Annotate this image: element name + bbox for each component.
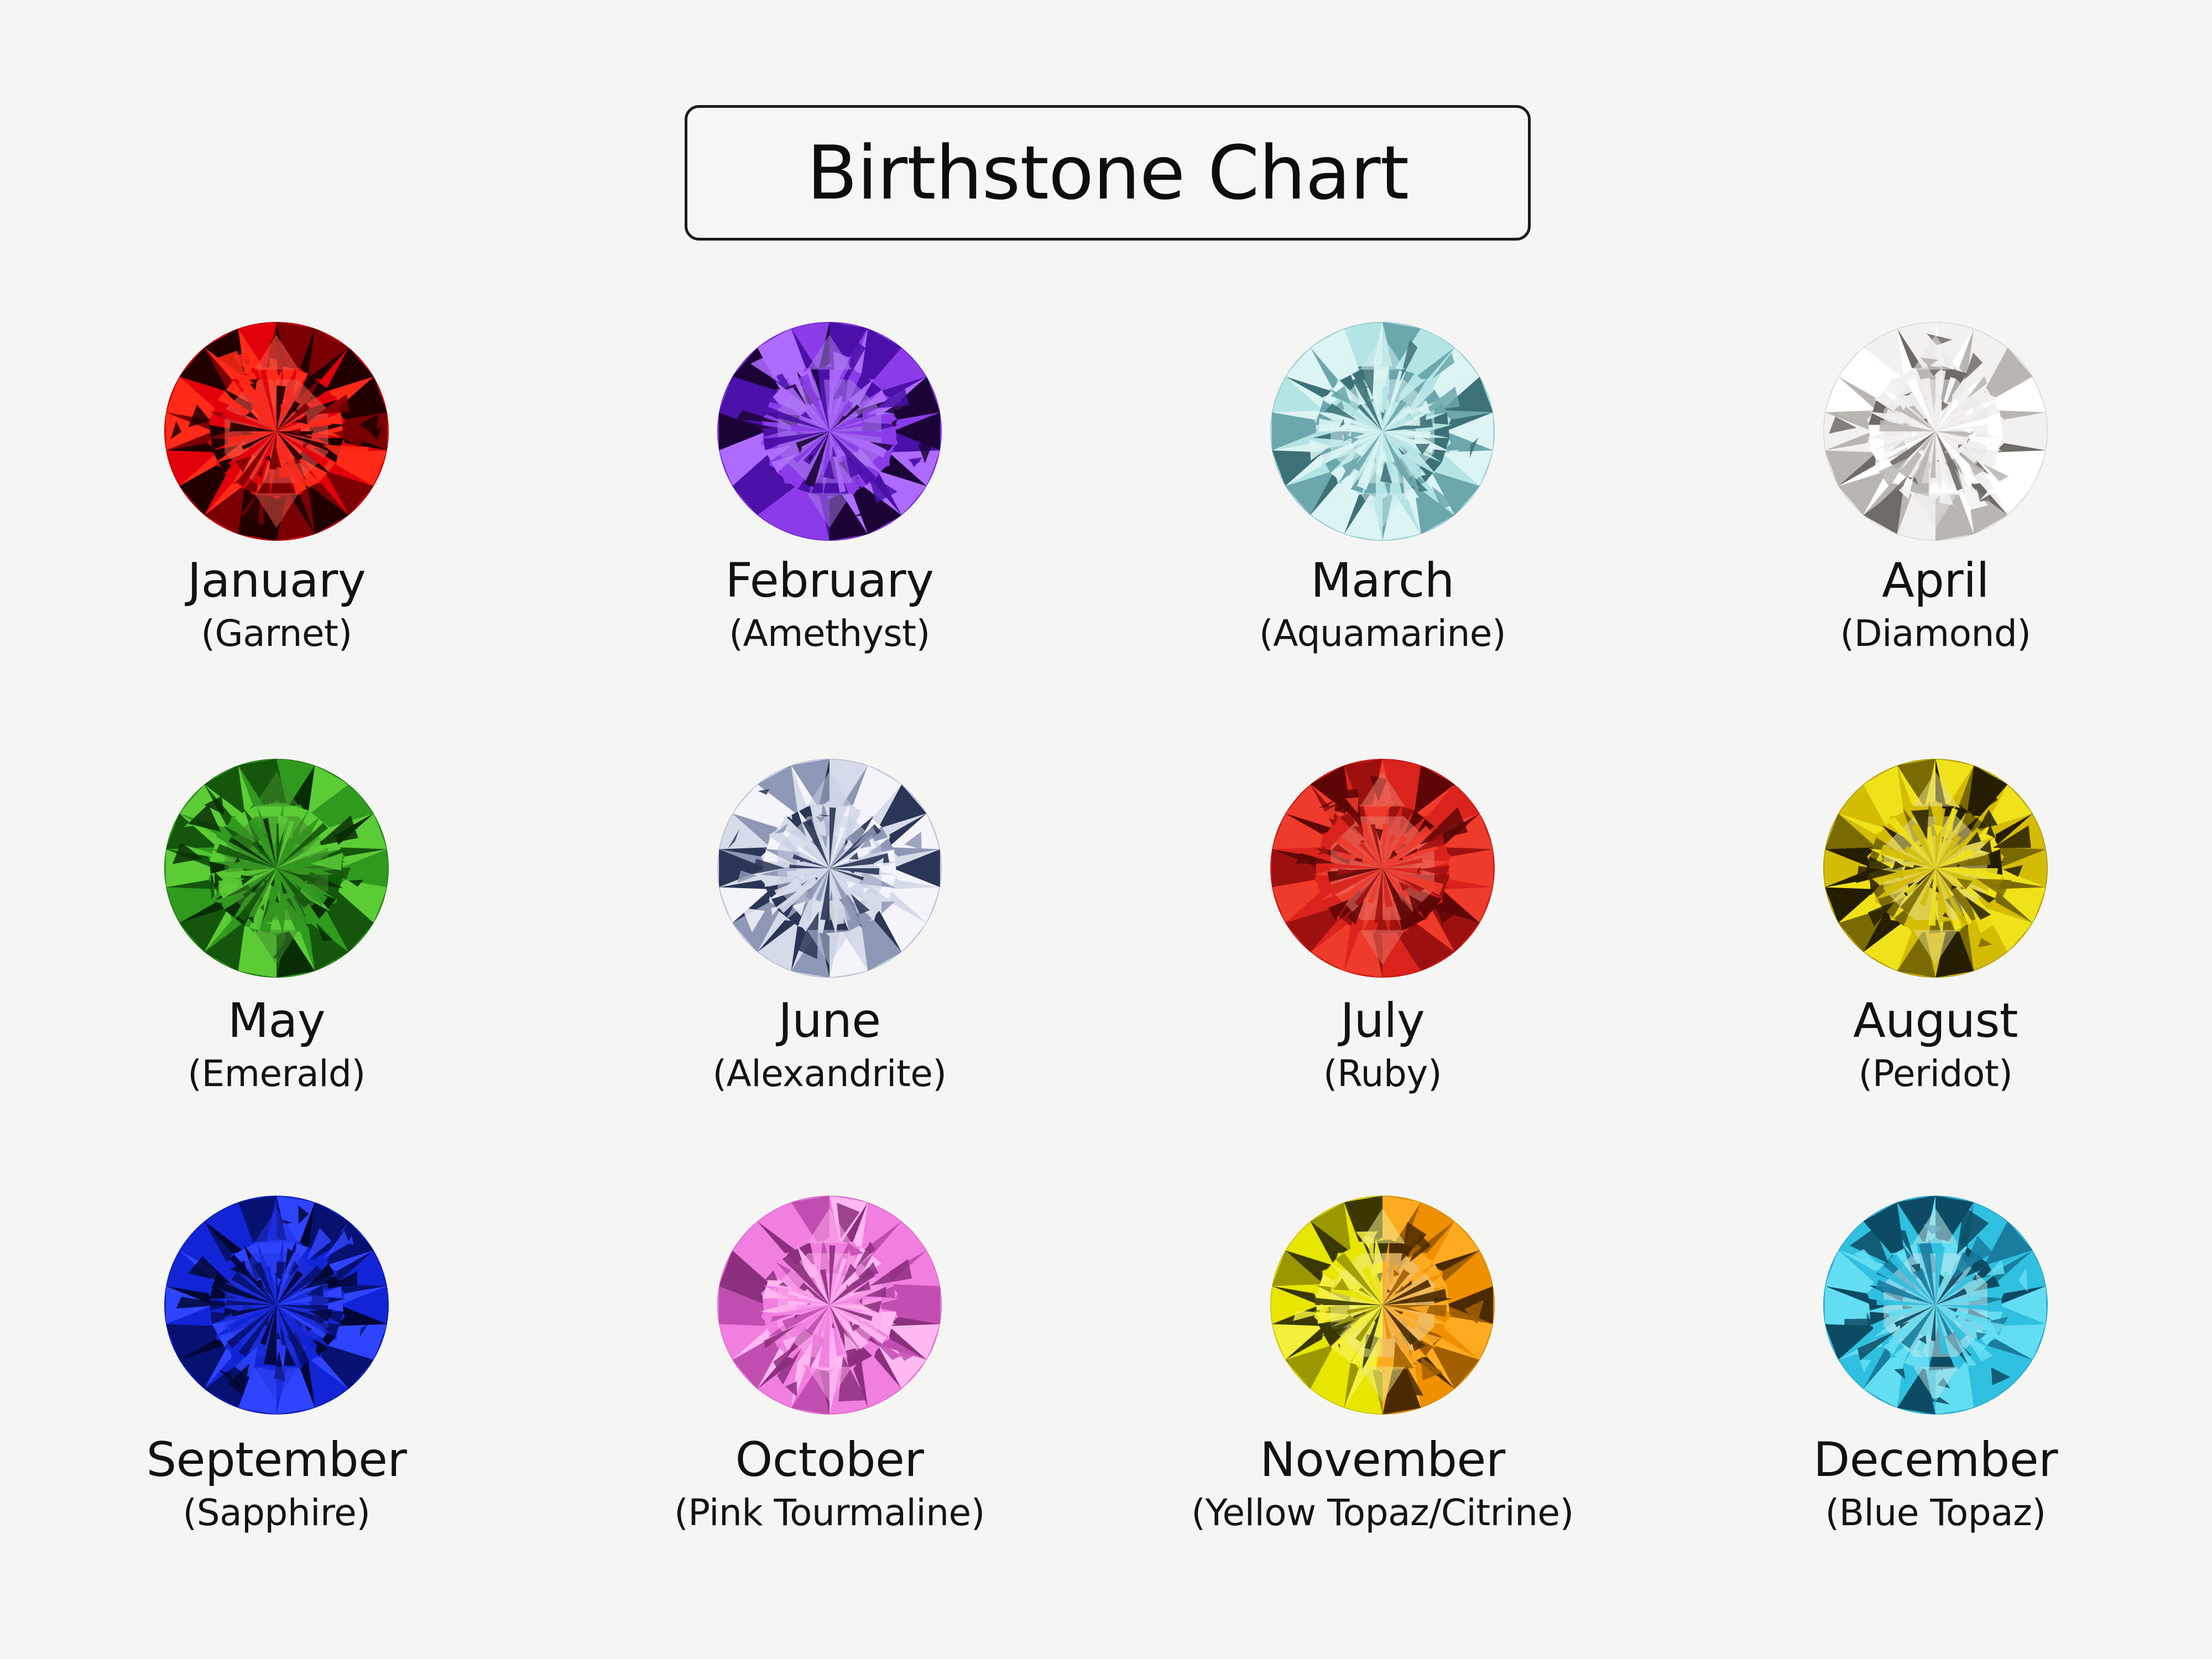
stone-name-label: (Ruby)	[1323, 1056, 1442, 1092]
month-label: August	[1853, 997, 2018, 1045]
birthstone-cell-october: October(Pink Tourmaline)	[553, 1192, 1106, 1629]
month-label: December	[1813, 1436, 2058, 1484]
month-label: September	[147, 1436, 407, 1484]
birthstone-grid: January(Garnet)February(Amethyst)March(A…	[0, 318, 2212, 1629]
month-label: October	[735, 1436, 924, 1484]
stone-name-label: (Aquamarine)	[1259, 615, 1506, 652]
birthstone-cell-september: September(Sapphire)	[0, 1192, 553, 1629]
stone-name-label: (Pink Tourmaline)	[674, 1495, 985, 1531]
month-label: January	[187, 557, 366, 604]
birthstone-cell-june: June(Alexandrite)	[553, 755, 1106, 1192]
stone-name-label: (Peridot)	[1859, 1056, 2013, 1092]
stone-name-label: (Sapphire)	[182, 1495, 370, 1531]
birthstone-cell-march: March(Aquamarine)	[1106, 318, 1659, 755]
round-brilliant-gem-icon	[1822, 1192, 2049, 1418]
birthstone-cell-april: April(Diamond)	[1659, 318, 2212, 755]
round-brilliant-split-gem-icon	[1269, 1192, 1496, 1418]
birthstone-cell-november: November(Yellow Topaz/Citrine)	[1106, 1192, 1659, 1629]
stone-name-label: (Blue Topaz)	[1825, 1495, 2046, 1531]
birthstone-chart-page: Birthstone Chart January(Garnet)February…	[0, 0, 2212, 1659]
round-brilliant-gem-icon	[1822, 318, 2049, 545]
round-brilliant-gem-icon	[163, 1192, 390, 1418]
stone-name-label: (Garnet)	[201, 615, 352, 652]
round-brilliant-gem-icon	[163, 318, 390, 545]
birthstone-cell-august: August(Peridot)	[1659, 755, 2212, 1192]
birthstone-cell-february: February(Amethyst)	[553, 318, 1106, 755]
month-label: June	[778, 997, 880, 1045]
stone-name-label: (Amethyst)	[729, 615, 930, 652]
round-brilliant-gem-icon	[716, 318, 943, 545]
round-brilliant-gem-icon	[716, 755, 943, 982]
birthstone-cell-may: May(Emerald)	[0, 755, 553, 1192]
stone-name-label: (Yellow Topaz/Citrine)	[1191, 1495, 1574, 1531]
stone-name-label: (Alexandrite)	[712, 1056, 946, 1092]
page-title-box: Birthstone Chart	[685, 105, 1531, 241]
round-brilliant-gem-icon	[1822, 755, 2049, 982]
month-label: May	[228, 997, 325, 1045]
month-label: February	[725, 557, 933, 604]
round-brilliant-gem-icon	[716, 1192, 943, 1418]
birthstone-cell-december: December(Blue Topaz)	[1659, 1192, 2212, 1629]
month-label: March	[1311, 557, 1454, 604]
month-label: July	[1340, 997, 1425, 1045]
month-label: April	[1882, 557, 1989, 604]
birthstone-cell-july: July(Ruby)	[1106, 755, 1659, 1192]
round-brilliant-gem-icon	[1269, 755, 1496, 982]
stone-name-label: (Diamond)	[1840, 615, 2031, 652]
round-brilliant-gem-icon	[1269, 318, 1496, 545]
birthstone-cell-january: January(Garnet)	[0, 318, 553, 755]
stone-name-label: (Emerald)	[187, 1056, 365, 1092]
month-label: November	[1260, 1436, 1505, 1484]
page-title: Birthstone Chart	[807, 136, 1408, 210]
round-brilliant-gem-icon	[163, 755, 390, 982]
